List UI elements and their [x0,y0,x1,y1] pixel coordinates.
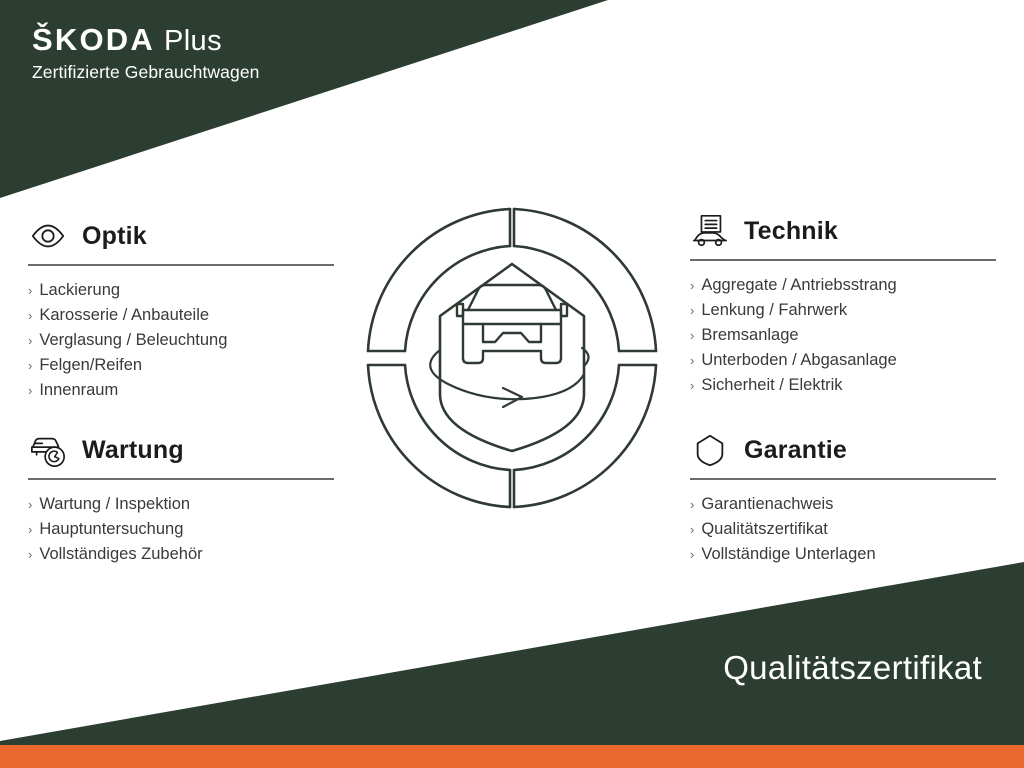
chevron-right-icon: › [28,542,32,567]
list-item-label: Qualitätszertifikat [701,517,828,542]
section-list: ›Garantienachweis ›Qualitätszertifikat ›… [690,492,996,567]
list-item-label: Verglasung / Beleuchtung [39,328,227,353]
section-divider [28,478,334,480]
chevron-right-icon: › [28,517,32,542]
emblem-orbit-arrow [430,348,588,407]
section-header: Optik [28,214,334,258]
list-item-label: Garantienachweis [701,492,833,517]
list-item-label: Lackierung [39,278,120,303]
list-item-label: Karosserie / Anbauteile [39,303,209,328]
header: ŠKODA Plus Zertifizierte Gebrauchtwagen [32,24,260,82]
eye-icon [28,216,68,256]
car-wrench-icon [28,430,68,470]
list-item: ›Unterboden / Abgasanlage [690,348,996,373]
list-item: ›Lenkung / Fahrwerk [690,298,996,323]
shield-icon [690,430,730,470]
list-item: ›Vollständiges Zubehör [28,542,334,567]
section-list: ›Aggregate / Antriebsstrang ›Lenkung / F… [690,273,996,398]
section-title: Optik [82,224,147,249]
document-car-icon [690,211,730,251]
list-item: ›Qualitätszertifikat [690,517,996,542]
chevron-right-icon: › [690,298,694,323]
section-list: ›Lackierung ›Karosserie / Anbauteile ›Ve… [28,278,334,403]
list-item-label: Vollständige Unterlagen [701,542,875,567]
section-technik: Technik ›Aggregate / Antriebsstrang ›Len… [690,209,996,398]
list-item: ›Garantienachweis [690,492,996,517]
list-item: ›Vollständige Unterlagen [690,542,996,567]
chevron-right-icon: › [690,373,694,398]
list-item: ›Bremsanlage [690,323,996,348]
chevron-right-icon: › [690,323,694,348]
list-item-label: Hauptuntersuchung [39,517,183,542]
certificate-page: ŠKODA Plus Zertifizierte Gebrauchtwagen [0,0,1024,768]
chevron-right-icon: › [690,348,694,373]
section-title: Garantie [744,438,847,463]
list-item-label: Innenraum [39,378,118,403]
list-item: ›Wartung / Inspektion [28,492,334,517]
list-item: ›Verglasung / Beleuchtung [28,328,334,353]
section-optik: Optik ›Lackierung ›Karosserie / Anbautei… [28,214,334,403]
section-divider [690,259,996,261]
section-header: Garantie [690,428,996,472]
section-list: ›Wartung / Inspektion ›Hauptuntersuchung… [28,492,334,567]
list-item-label: Wartung / Inspektion [39,492,190,517]
list-item-label: Bremsanlage [701,323,798,348]
list-item-label: Aggregate / Antriebsstrang [701,273,896,298]
section-title: Wartung [82,438,184,463]
brand-suffix: Plus [164,27,222,56]
section-wartung: Wartung ›Wartung / Inspektion ›Hauptunte… [28,428,334,567]
chevron-right-icon: › [28,492,32,517]
chevron-right-icon: › [28,278,32,303]
section-header: Wartung [28,428,334,472]
emblem-outer-ring [368,209,656,507]
orange-bottom-bar [0,745,1024,768]
chevron-right-icon: › [28,328,32,353]
chevron-right-icon: › [690,517,694,542]
chevron-right-icon: › [690,273,694,298]
list-item-label: Sicherheit / Elektrik [701,373,842,398]
section-header: Technik [690,209,996,253]
list-item: ›Lackierung [28,278,334,303]
chevron-right-icon: › [28,353,32,378]
brand-lockup: ŠKODA Plus [32,24,260,56]
emblem-shield [440,264,584,451]
list-item: ›Aggregate / Antriebsstrang [690,273,996,298]
section-divider [690,478,996,480]
list-item-label: Vollständiges Zubehör [39,542,202,567]
emblem-inner-ring [405,246,619,470]
section-title: Technik [744,219,838,244]
emblem-car [457,285,567,363]
list-item: ›Hauptuntersuchung [28,517,334,542]
footer-title: Qualitätszertifikat [723,649,982,687]
header-subtitle: Zertifizierte Gebrauchtwagen [32,63,260,82]
list-item: ›Innenraum [28,378,334,403]
list-item-label: Felgen/Reifen [39,353,142,378]
car-shield-rotation-emblem [362,198,662,518]
chevron-right-icon: › [690,492,694,517]
list-item-label: Lenkung / Fahrwerk [701,298,847,323]
chevron-right-icon: › [28,303,32,328]
list-item: ›Felgen/Reifen [28,353,334,378]
list-item: ›Sicherheit / Elektrik [690,373,996,398]
brand-name: ŠKODA [32,24,155,55]
list-item-label: Unterboden / Abgasanlage [701,348,896,373]
list-item: ›Karosserie / Anbauteile [28,303,334,328]
chevron-right-icon: › [690,542,694,567]
chevron-right-icon: › [28,378,32,403]
section-divider [28,264,334,266]
section-garantie: Garantie ›Garantienachweis ›Qualitätszer… [690,428,996,567]
